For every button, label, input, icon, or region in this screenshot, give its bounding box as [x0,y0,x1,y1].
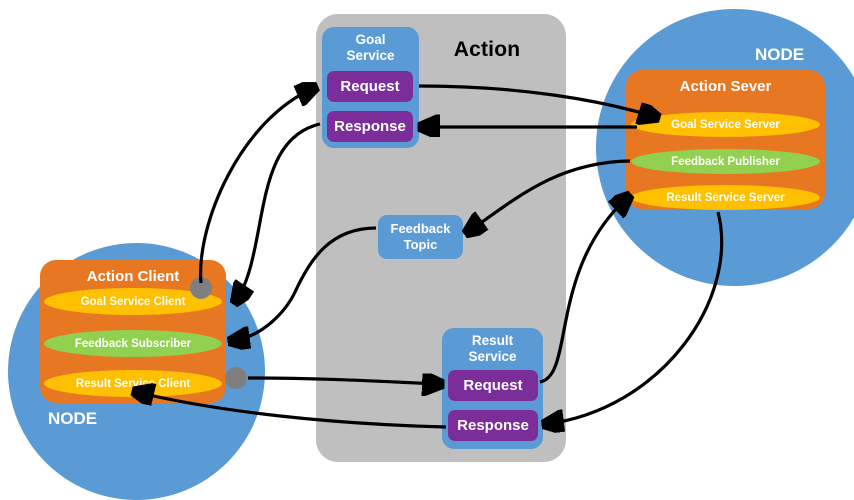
result-client-connector-dot [225,367,247,389]
feedback-topic-label: Feedback Topic [391,221,451,253]
goal-service-title-line2: Service [346,48,394,63]
result-service-title: Result Service [442,333,543,365]
diagram-canvas: Action Action Client Goal Service Client… [0,0,854,480]
goal-service-server-pill[interactable]: Goal Service Server [631,112,820,137]
goal-client-connector-dot [190,277,212,299]
feedback-topic-line1: Feedback [391,221,451,236]
goal-service-response[interactable]: Response [327,111,413,142]
client-node-label: NODE [48,409,97,429]
goal-service-request[interactable]: Request [327,71,413,102]
goal-service-title-line1: Goal [355,32,385,47]
server-node-label: NODE [755,45,804,65]
result-service-request[interactable]: Request [448,370,538,401]
result-service-title-line2: Service [468,349,516,364]
result-service-response[interactable]: Response [448,410,538,441]
arrow-response-to-goalclient [236,124,320,301]
feedback-publisher-pill[interactable]: Feedback Publisher [631,149,820,174]
feedback-topic-line2: Topic [404,237,438,252]
result-service-title-line1: Result [472,333,513,348]
feedback-topic-box[interactable]: Feedback Topic [378,215,463,259]
arrow-goalclient-to-request [201,88,314,283]
feedback-subscriber-pill[interactable]: Feedback Subscriber [44,330,222,357]
result-service-server-pill[interactable]: Result Service Server [631,185,820,210]
action-server-title: Action Sever [626,78,825,95]
result-service-client-pill[interactable]: Result Service Client [44,370,222,397]
goal-service-title: Goal Service [322,32,419,64]
action-container-title: Action [432,38,542,62]
